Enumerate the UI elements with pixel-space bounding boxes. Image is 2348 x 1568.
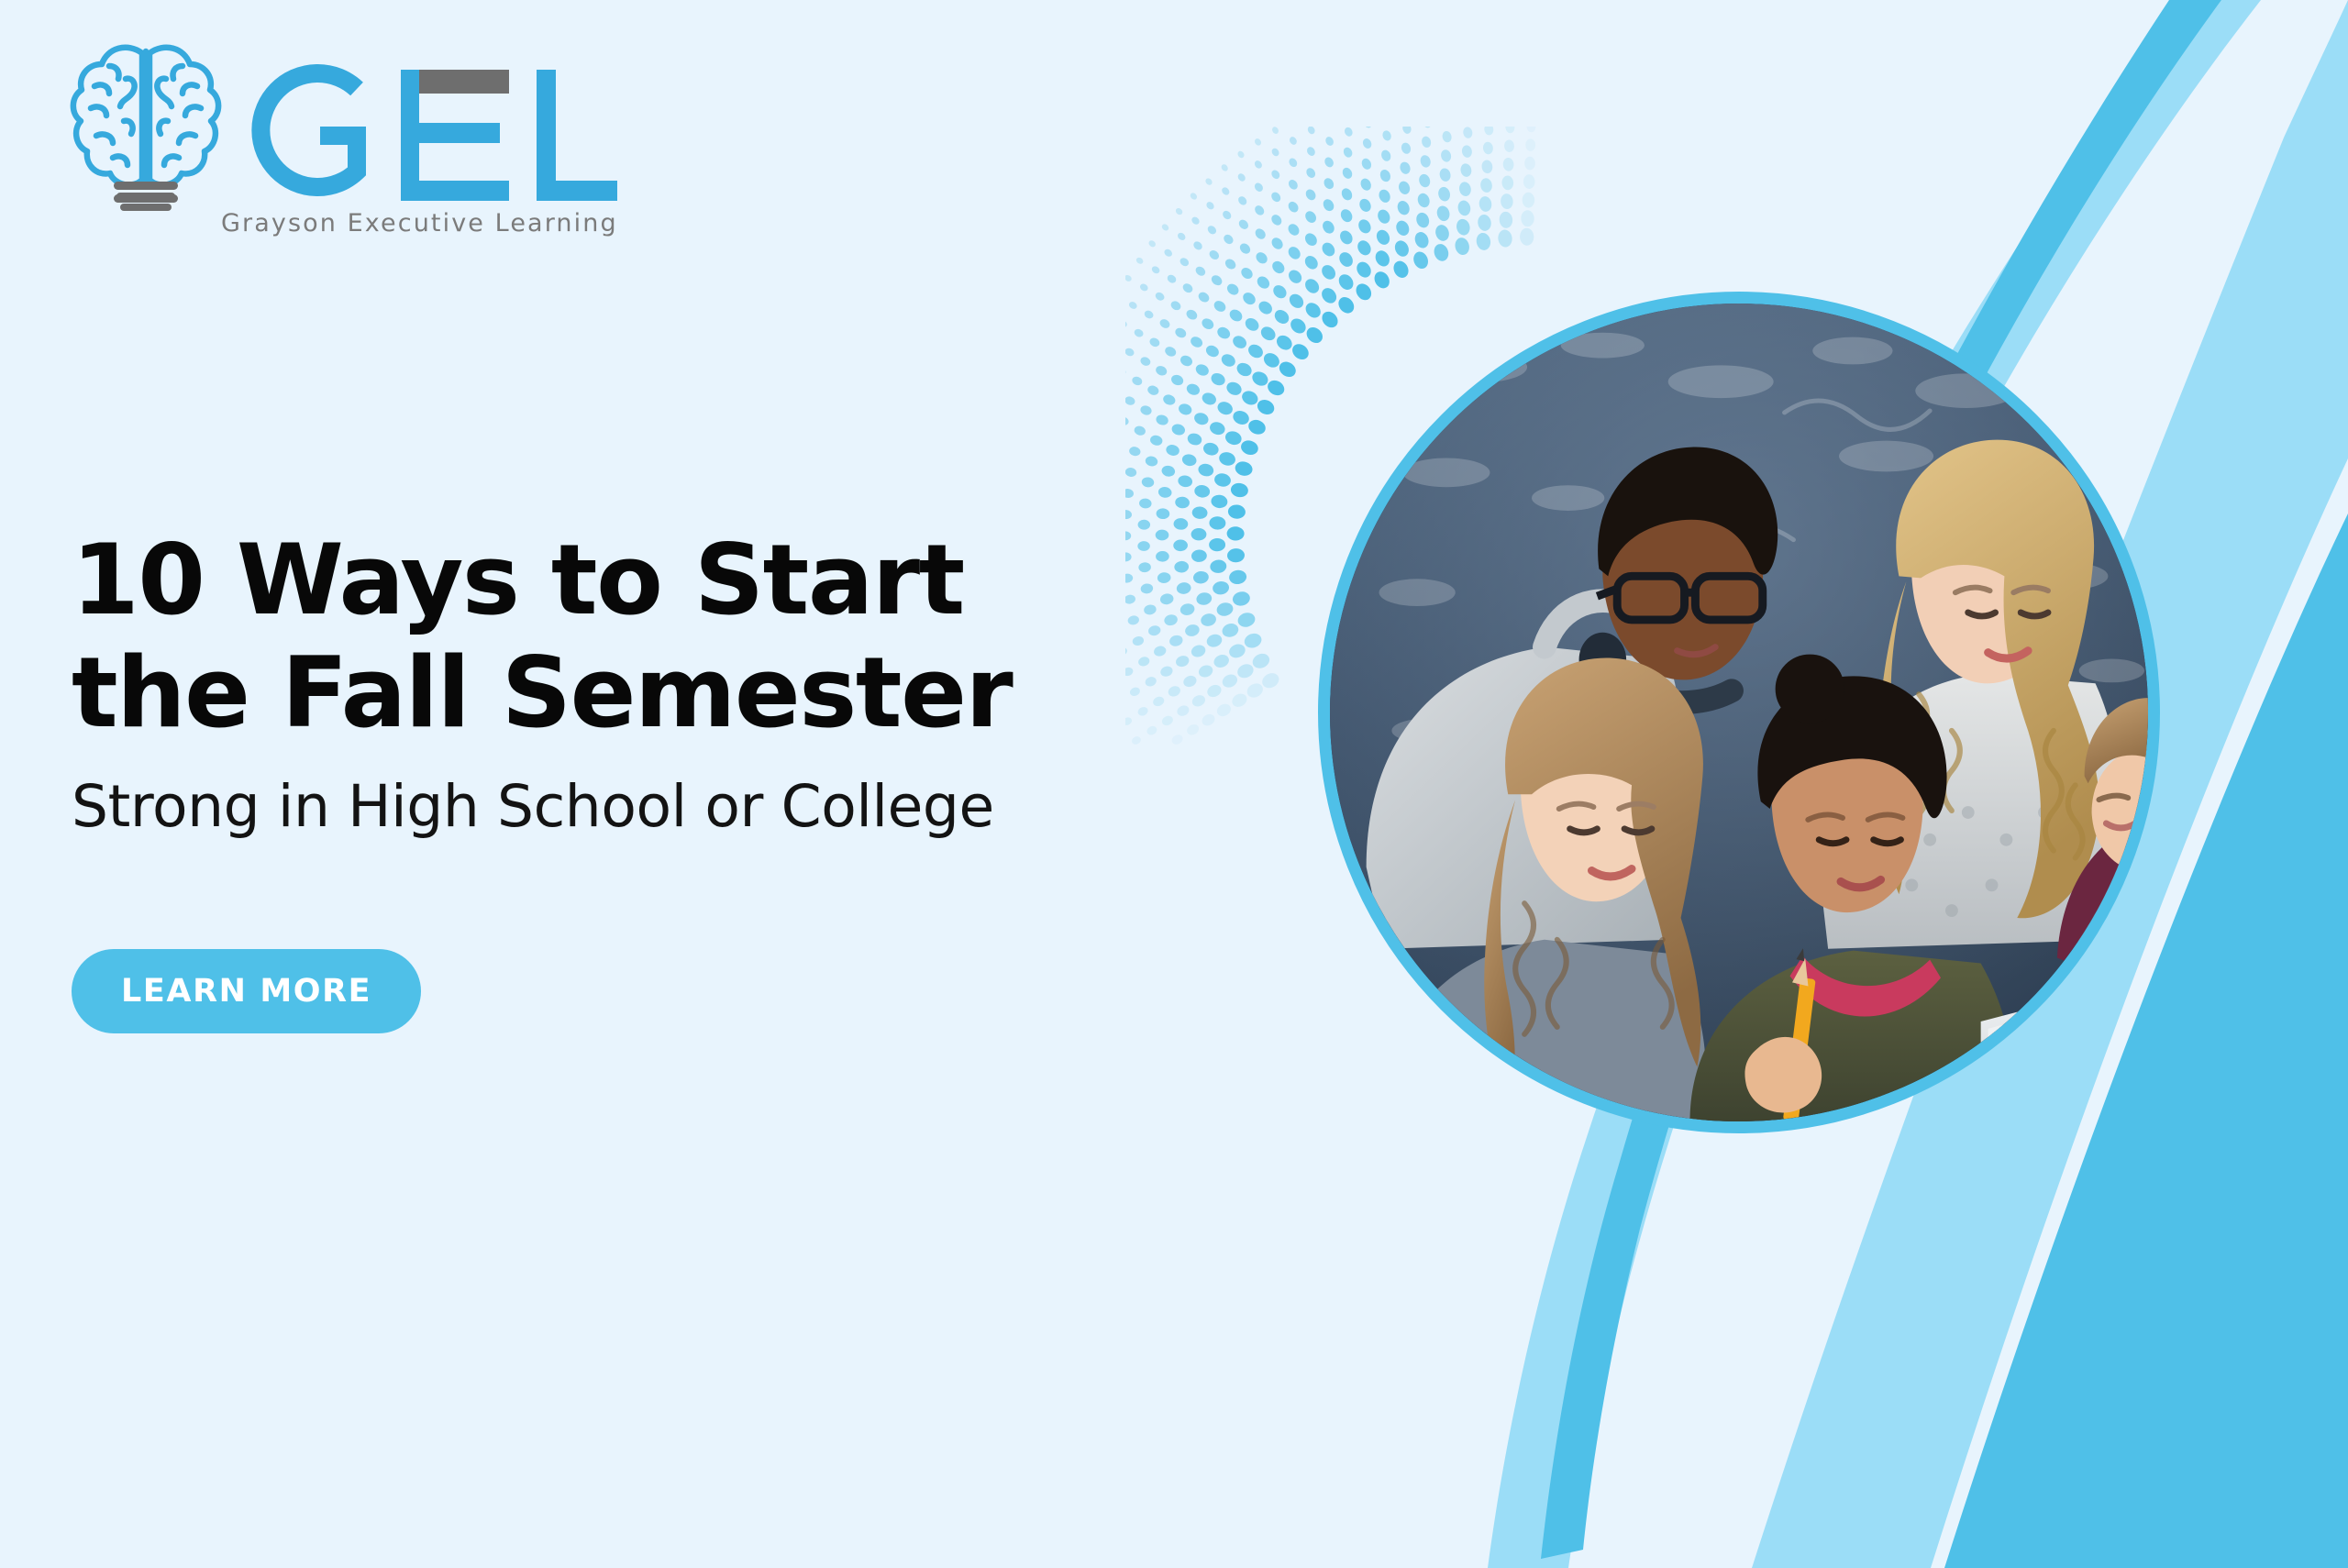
hero-photo <box>1318 292 2160 1133</box>
logo-row <box>69 48 637 213</box>
hero-text-block: 10 Ways to Start the Fall Semester Stron… <box>72 525 1264 842</box>
logo-letter-l <box>537 70 617 201</box>
page-title: 10 Ways to Start the Fall Semester <box>72 525 1264 750</box>
logo[interactable]: Grayson Executive Learning <box>69 48 637 237</box>
brain-lightbulb-icon <box>69 29 223 213</box>
logo-letter-g <box>260 73 357 187</box>
photo-ring <box>1318 292 2160 1133</box>
logo-wordmark <box>228 48 623 213</box>
page-subtitle: Strong in High School or College <box>72 772 1264 842</box>
learn-more-button[interactable]: LEARN MORE <box>72 949 421 1033</box>
logo-letter-e <box>401 70 509 201</box>
banner-canvas: Grayson Executive Learning 10 Ways to St… <box>0 0 2348 1568</box>
logo-tagline: Grayson Executive Learning <box>221 209 637 237</box>
students-photo <box>1330 304 2148 1121</box>
